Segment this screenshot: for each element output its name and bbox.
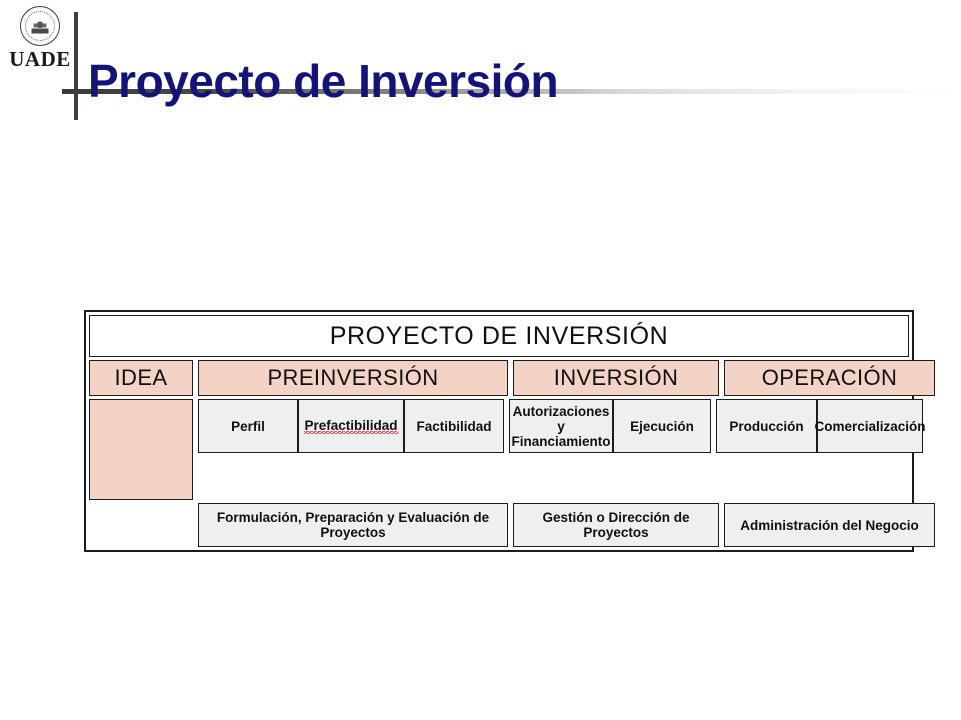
discipline-idea-spacer — [89, 503, 193, 547]
stage-cell-produccion: Producción — [716, 399, 817, 453]
uade-wordmark: UADE — [8, 47, 72, 71]
project-phases-matrix: PROYECTO DE INVERSIÓN IDEA PREINVERSIÓN … — [84, 310, 914, 552]
discipline-cell-operacion: Administración del Negocio — [724, 503, 935, 547]
header-vertical-rule — [74, 12, 78, 120]
discipline-cell-preinversion: Formulación, Preparación y Evaluación de… — [198, 503, 508, 547]
slide-header: UADE Proyecto de Inversión — [0, 0, 961, 130]
misspelled-word: Prefactibilidad — [304, 418, 397, 434]
stage-group-inversion: Autorizaciones y Financiamiento Ejecució… — [509, 399, 711, 500]
clipped-text-artifact — [214, 284, 574, 304]
stage-group-preinversion: Perfil Prefactibilidad Factibilidad — [198, 399, 504, 500]
stage-cell-ejecucion: Ejecución — [613, 399, 711, 453]
stage-cell-factibilidad: Factibilidad — [404, 399, 504, 453]
autorizaciones-line1: Autorizaciones — [513, 404, 610, 419]
page-title: Proyecto de Inversión — [88, 53, 558, 109]
stage-group-operacion: Producción Comercialización — [716, 399, 923, 500]
matrix-title-row: PROYECTO DE INVERSIÓN — [89, 315, 909, 357]
stage-cell-prefactibilidad: Prefactibilidad — [298, 399, 404, 453]
stage-cell-text: Autorizaciones y Financiamiento — [512, 404, 611, 449]
stage-cell-perfil: Perfil — [198, 399, 298, 453]
matrix-phase-row: IDEA PREINVERSIÓN INVERSIÓN OPERACIÓN — [89, 360, 909, 396]
phase-cell-operacion: OPERACIÓN — [724, 360, 935, 396]
stage-cell-comercializacion: Comercialización — [817, 399, 923, 453]
uade-seal-icon — [20, 6, 60, 46]
stage-cell-autorizaciones: Autorizaciones y Financiamiento — [509, 399, 613, 453]
phase-cell-inversion: INVERSIÓN — [513, 360, 719, 396]
discipline-cell-inversion: Gestión o Dirección de Proyectos — [513, 503, 719, 547]
uade-logo: UADE — [8, 6, 72, 71]
stage-cell-idea-blank — [89, 399, 193, 500]
phase-cell-idea: IDEA — [89, 360, 193, 396]
autorizaciones-line3: Financiamiento — [512, 434, 611, 449]
matrix-title-cell: PROYECTO DE INVERSIÓN — [89, 315, 909, 357]
autorizaciones-line2: y — [557, 419, 565, 434]
project-lifecycle-figure: PROYECTO DE INVERSIÓN IDEA PREINVERSIÓN … — [84, 284, 914, 514]
seal-emblem-icon — [32, 19, 49, 34]
phase-cell-preinversion: PREINVERSIÓN — [198, 360, 508, 396]
matrix-stage-row: Perfil Prefactibilidad Factibilidad Auto… — [89, 399, 909, 500]
matrix-discipline-row: Formulación, Preparación y Evaluación de… — [89, 503, 909, 547]
